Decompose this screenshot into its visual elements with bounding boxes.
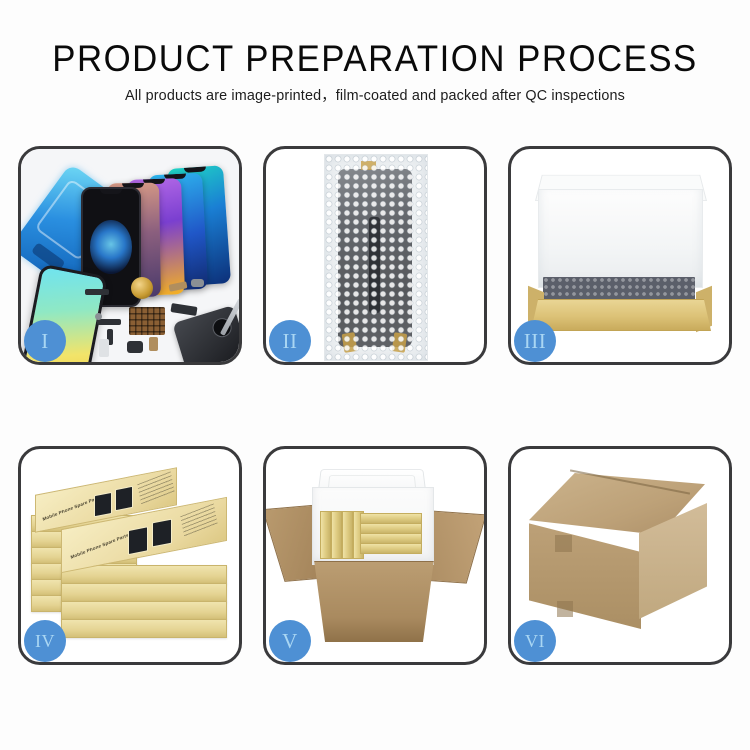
retail-box-label: Mobile Phone Spare Parts — [42, 495, 101, 522]
page-subtitle: All products are image-printed，film-coat… — [6, 87, 745, 105]
sim-tray-icon — [99, 339, 109, 357]
retail-box-slab — [61, 619, 227, 638]
step-badge-1: I — [24, 320, 66, 362]
step-badge-2: II — [269, 320, 311, 362]
box-screen-thumb — [115, 486, 133, 511]
process-step-grid: I II — [18, 146, 732, 684]
ribbon-cable-icon — [97, 319, 121, 325]
box-screen-thumb — [152, 519, 172, 548]
process-step-6: VI — [508, 446, 732, 665]
process-step-2: II — [263, 146, 487, 365]
process-step-4: Mobile Phone Spare Parts Mobile Phone Sp… — [18, 446, 242, 665]
packed-box-upright — [342, 511, 353, 559]
box-screen-thumb — [94, 492, 112, 517]
process-step-1: I — [18, 146, 242, 365]
carton-body-icon — [306, 561, 442, 642]
step-badge-5: V — [269, 620, 311, 662]
step-badge-6: VI — [514, 620, 556, 662]
ic-chip-board-icon — [129, 307, 165, 335]
packed-box-upright — [320, 511, 331, 559]
battery-connector-icon — [85, 289, 109, 295]
bubble-wrap-bag-icon — [324, 154, 428, 361]
step-badge-4: IV — [24, 620, 66, 662]
carton-left-face-icon — [529, 519, 641, 629]
box-screen-thumb — [128, 526, 148, 555]
carton-tape-patch-icon — [555, 535, 572, 552]
box-stack-group: Mobile Phone Spare Parts Mobile Phone Sp… — [31, 469, 227, 649]
bracket-icon — [191, 279, 204, 287]
spare-parts-group — [83, 275, 233, 362]
packed-box-upright — [331, 511, 342, 559]
process-step-3: III — [508, 146, 732, 365]
retail-box-label: Mobile Phone Spare Parts — [70, 533, 129, 560]
bubble-texture-overlay — [325, 155, 427, 360]
box-spec-text-lines — [180, 503, 218, 537]
retail-box-slab — [61, 601, 227, 620]
page-title: PRODUCT PREPARATION PROCESS — [23, 38, 728, 80]
packed-boxes-group — [320, 511, 424, 559]
camera-module-icon — [127, 341, 143, 353]
speaker-coil-icon — [131, 277, 153, 299]
mailer-box-front-icon — [531, 299, 711, 331]
white-foam-liner-icon — [538, 189, 703, 288]
flex-cable-icon — [168, 281, 187, 292]
packed-box-flat — [360, 543, 422, 554]
header: PRODUCT PREPARATION PROCESS All products… — [0, 38, 750, 105]
screw-icon — [95, 313, 102, 320]
vibrator-icon — [149, 337, 158, 351]
product-preparation-infographic: PRODUCT PREPARATION PROCESS All products… — [0, 0, 750, 750]
charging-port-flex-icon — [170, 303, 197, 316]
retail-box-slab — [61, 583, 227, 602]
step-badge-3: III — [514, 320, 556, 362]
carton-tape-patch-icon — [557, 601, 573, 617]
process-step-5: V — [263, 446, 487, 665]
box-spec-text-lines — [137, 471, 175, 505]
